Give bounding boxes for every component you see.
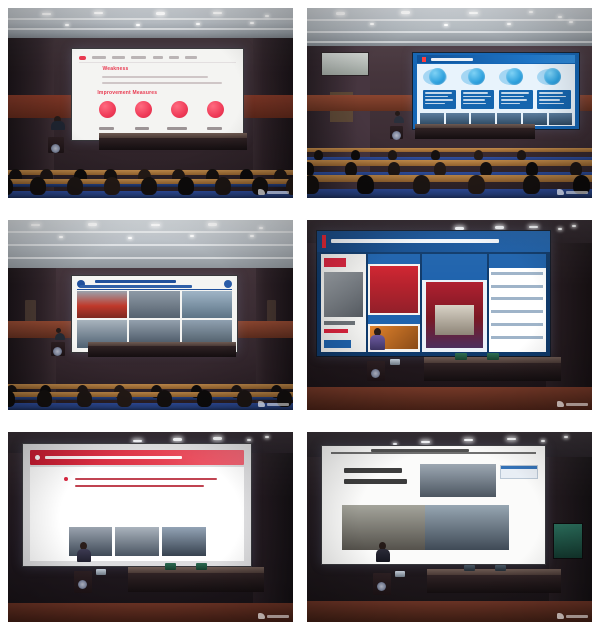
head-table-5 — [128, 567, 265, 592]
slide-1-circle-2 — [135, 101, 152, 118]
slide-1-circle-4 — [207, 101, 224, 118]
ceiling-3 — [8, 220, 293, 269]
podium-5 — [74, 571, 92, 593]
presentation-screen-6[interactable] — [321, 445, 545, 565]
slide-2-card-3 — [499, 90, 532, 109]
podium-6 — [373, 573, 391, 595]
slide-1-heading-improvement: Improvement Measures — [97, 90, 157, 96]
watermark-4 — [557, 401, 588, 407]
slide-3-photo-2 — [129, 291, 179, 319]
side-display-6 — [553, 523, 584, 559]
slide-5-title-banner — [30, 450, 244, 465]
podium-3 — [51, 342, 65, 356]
slide-3-logo-right-icon — [224, 280, 232, 288]
ceiling-2 — [307, 8, 592, 50]
watermark-logo-icon — [557, 613, 564, 619]
side-wall-right-4 — [546, 243, 592, 410]
slide-4 — [317, 231, 551, 356]
slide-6-divider — [331, 452, 536, 454]
slide-2-step-circle-4 — [544, 68, 561, 85]
slide-5-photo-2 — [115, 527, 159, 555]
slide-2-step-circle-3 — [506, 68, 523, 85]
slide-5-photo-3 — [162, 527, 206, 555]
monitor-4a — [455, 353, 467, 360]
watermark-logo-icon — [258, 189, 265, 195]
laptop-4 — [390, 359, 400, 365]
watermark-6 — [557, 613, 588, 619]
slide-2-card-1 — [423, 90, 456, 109]
slide-nav-dot-icon — [79, 56, 86, 60]
slide-2 — [413, 53, 578, 129]
speaker-2 — [393, 111, 405, 123]
slide-5-body-bullet-icon — [64, 477, 68, 481]
monitor-6b — [495, 565, 506, 571]
watermark-3 — [258, 401, 289, 407]
slide-2-step-circle-2 — [468, 68, 485, 85]
podium-4 — [367, 361, 385, 381]
slide-6-heading-line-1 — [344, 468, 402, 473]
photo-panel-4[interactable] — [307, 220, 592, 410]
slide-5-body — [30, 467, 244, 561]
head-table-3 — [88, 342, 236, 357]
slide-1-circle-3 — [171, 101, 188, 118]
collage-sheet: Weakness Improvement Measures — [0, 0, 600, 627]
slide-3-photo-grid — [77, 291, 232, 349]
slide-1-navbar — [79, 53, 236, 62]
watermark-logo-icon — [258, 613, 265, 619]
speaker-4 — [370, 328, 386, 350]
speaker-6 — [375, 542, 390, 562]
stage-floor-4 — [307, 387, 592, 410]
slide-2-card-4 — [537, 90, 570, 109]
ceiling-1 — [8, 8, 293, 40]
speaker-5 — [76, 542, 91, 562]
slide-1-circle-1 — [99, 101, 116, 118]
presentation-screen-4[interactable] — [316, 230, 552, 357]
slide-3-photo-1 — [77, 291, 127, 319]
watermark-1 — [258, 189, 289, 195]
head-table-4 — [424, 357, 561, 382]
slide-4-panels — [321, 254, 545, 352]
audience-3 — [8, 357, 293, 410]
photo-panel-5[interactable] — [8, 432, 293, 622]
photo-grid: Weakness Improvement Measures — [8, 8, 592, 620]
slide-2-step-circle-1 — [429, 68, 446, 85]
photo-panel-6[interactable] — [307, 432, 592, 622]
photo-panel-2[interactable] — [307, 8, 592, 198]
slide-6-heading-line-2 — [344, 479, 406, 484]
presentation-screen-1[interactable]: Weakness Improvement Measures — [71, 48, 244, 141]
monitor-4b — [487, 353, 499, 360]
photo-panel-1[interactable]: Weakness Improvement Measures — [8, 8, 293, 198]
slide-4-panel-4-table — [489, 254, 546, 352]
slide-4-red-accent — [322, 235, 326, 248]
presentation-screen-2[interactable] — [412, 52, 579, 130]
watermark-2 — [557, 189, 588, 195]
head-table-6 — [427, 569, 561, 594]
laptop-6 — [395, 571, 405, 577]
slide-1-heading-weakness: Weakness — [102, 66, 128, 72]
watermark-5 — [258, 613, 289, 619]
presentation-screen-5[interactable] — [22, 443, 252, 567]
room-4 — [307, 220, 592, 410]
slide-2-title-bar — [417, 55, 576, 63]
speaker-3 — [54, 328, 66, 340]
watermark-logo-icon — [258, 401, 265, 407]
stage-floor-6 — [307, 601, 592, 622]
watermark-logo-icon — [557, 401, 564, 407]
slide-5 — [23, 444, 251, 566]
slide-3-header — [77, 279, 232, 290]
slide-4-panel-1 — [321, 254, 365, 352]
slide-6-photo-3 — [425, 505, 509, 550]
room-5 — [8, 432, 293, 622]
slide-6-inset-card — [500, 465, 538, 479]
monitor-5b — [196, 563, 207, 570]
slide-1: Weakness Improvement Measures — [72, 49, 243, 140]
slide-6-header-text — [371, 449, 469, 452]
slide-5-bullet-icon — [35, 455, 40, 460]
slide-2-body — [417, 64, 576, 126]
audience-1 — [8, 141, 293, 198]
watermark-logo-icon — [557, 189, 564, 195]
room-6 — [307, 432, 592, 622]
side-wall-right-5 — [253, 453, 293, 622]
photo-panel-3[interactable] — [8, 220, 293, 410]
slide-6 — [322, 446, 544, 564]
room-1: Weakness Improvement Measures — [8, 8, 293, 198]
monitor-6a — [464, 565, 475, 571]
audience-2 — [307, 122, 592, 198]
speaker-1 — [51, 116, 65, 130]
slide-3-photo-3 — [182, 291, 232, 319]
room-2 — [307, 8, 592, 198]
room-3 — [8, 220, 293, 410]
slide-6-photo-1 — [420, 464, 496, 497]
stage-floor-5 — [8, 603, 293, 622]
laptop-5 — [96, 569, 106, 575]
monitor-5a — [165, 563, 176, 570]
slide-4-title-bar — [317, 231, 551, 252]
side-projection-screen-2 — [321, 52, 369, 77]
slide-2-card-2 — [461, 90, 494, 109]
slide-4-panel-3 — [422, 254, 487, 352]
